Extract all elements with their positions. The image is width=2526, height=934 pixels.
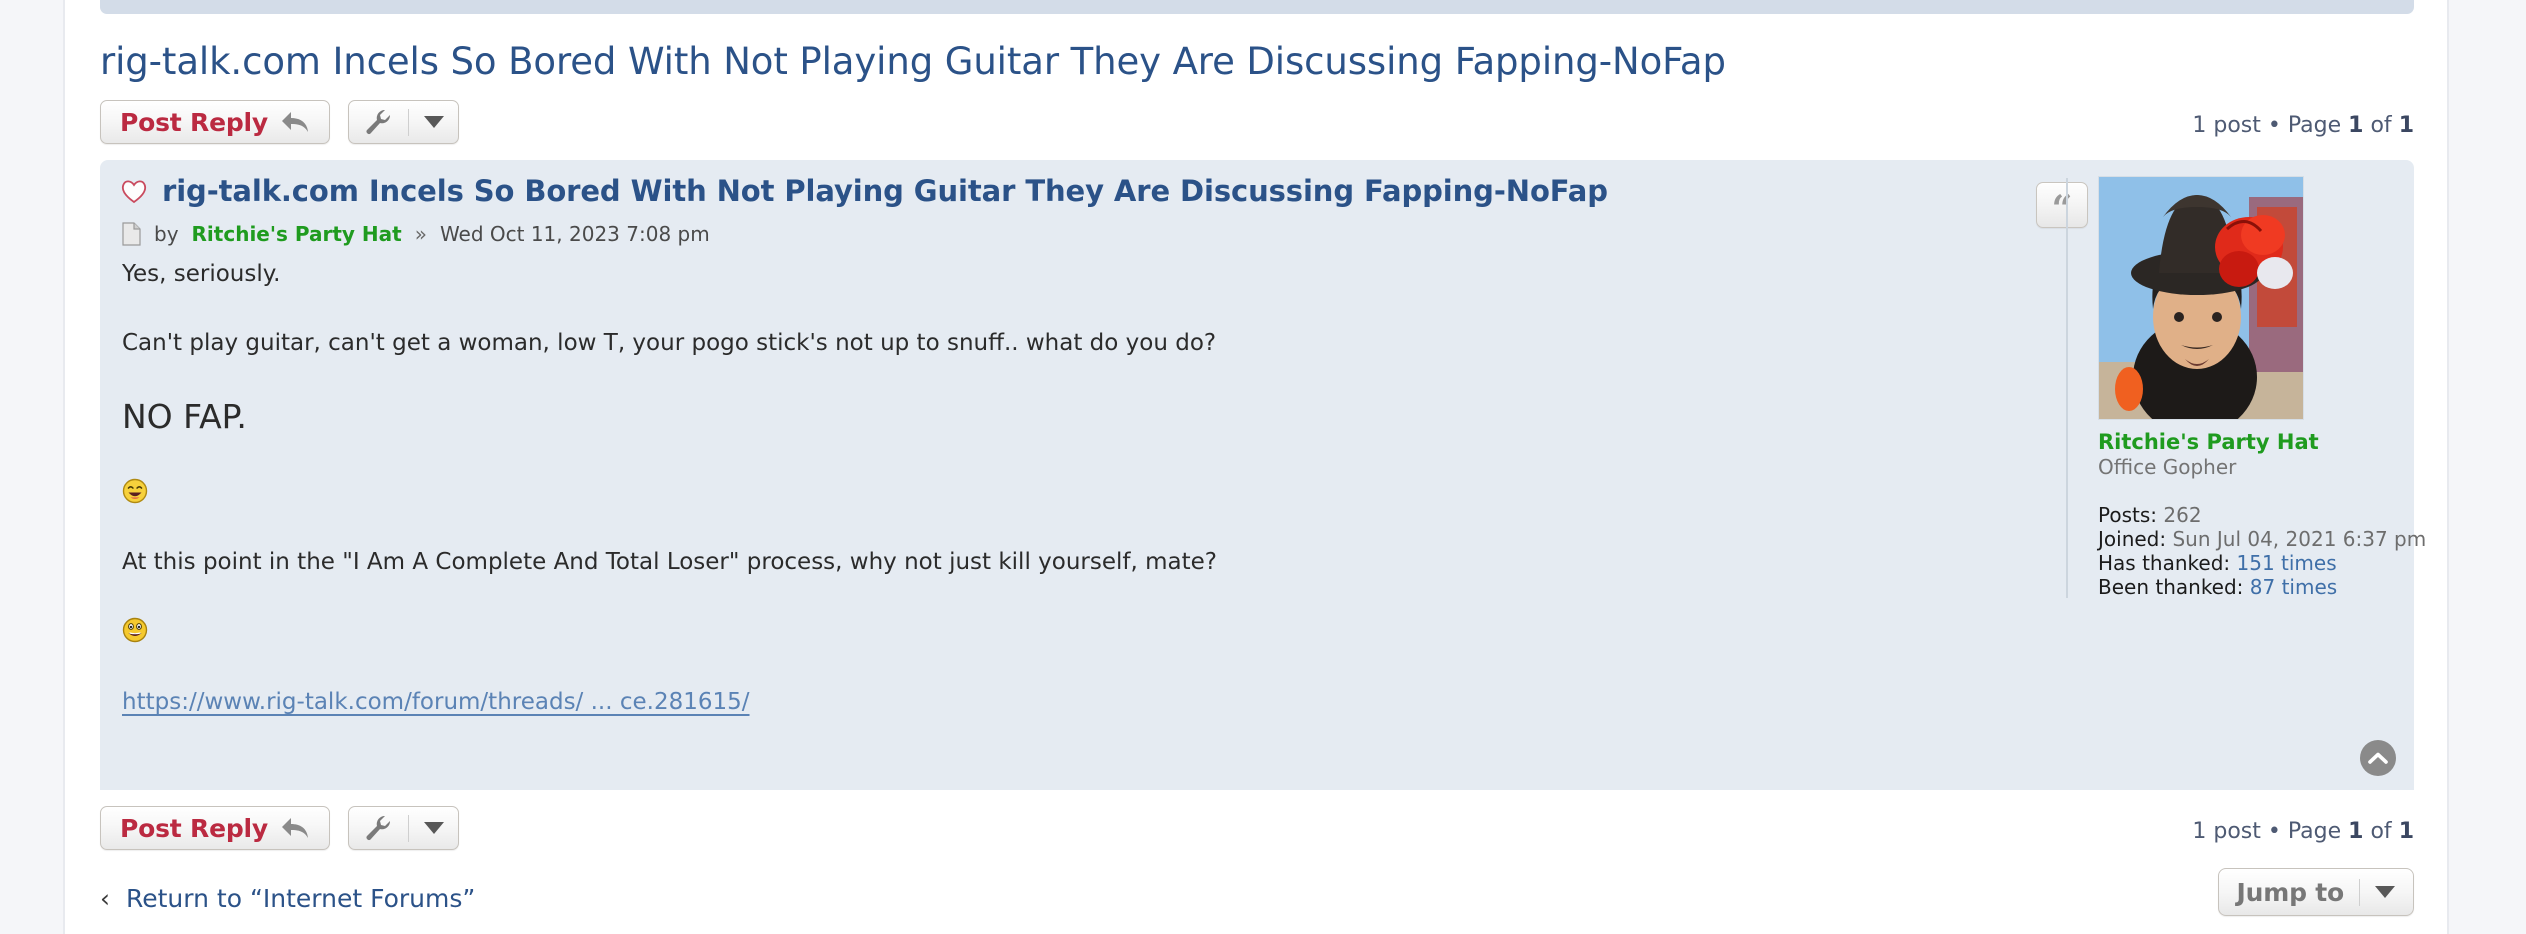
post-title-row: rig-talk.com Incels So Bored With Not Pl… <box>120 174 1608 208</box>
pagination-bottom: 1 post • Page 1 of 1 <box>2192 819 2414 844</box>
of-word: of <box>2370 113 2391 138</box>
emoticon-row <box>122 617 1992 645</box>
pagination-bullet: • <box>2268 113 2281 138</box>
post-subject[interactable]: rig-talk.com Incels So Bored With Not Pl… <box>162 174 1608 208</box>
wrench-icon <box>363 108 393 136</box>
content-wrapper: rig-talk.com Incels So Bored With Not Pl… <box>63 0 2449 934</box>
of-word: of <box>2370 819 2391 844</box>
profile-username[interactable]: Ritchie's Party Hat <box>2098 430 2388 454</box>
button-separator <box>408 815 409 842</box>
stat-label: Joined: <box>2098 527 2166 551</box>
stat-row: Been thanked: 87 times <box>2098 575 2388 599</box>
stat-value: 262 <box>2163 503 2201 527</box>
smiley-laughing-icon <box>122 478 148 504</box>
bottom-navigation: ‹ Return to “Internet Forums” Jump to <box>100 884 2414 932</box>
profile-stats: Posts: 262 Joined: Sun Jul 04, 2021 6:37… <box>2098 503 2388 599</box>
quote-button[interactable]: “ <box>2036 182 2088 228</box>
chevron-down-icon <box>2375 886 2395 898</box>
emoticon-row <box>122 478 1992 506</box>
post-reply-button-bottom[interactable]: Post Reply <box>100 806 330 850</box>
total-pages: 1 <box>2399 819 2414 844</box>
return-label: Return to “Internet Forums” <box>126 884 475 913</box>
smiley-grin-icon <box>122 617 148 643</box>
current-page: 1 <box>2348 819 2363 844</box>
pagination-top: 1 post • Page 1 of 1 <box>2192 113 2414 138</box>
post-reply-button-top[interactable]: Post Reply <box>100 100 330 144</box>
reply-arrow-icon <box>280 815 310 841</box>
post-paragraph: Yes, seriously. <box>122 260 1992 288</box>
post-panel: rig-talk.com Incels So Bored With Not Pl… <box>100 160 2414 790</box>
page-word: Page <box>2288 113 2341 138</box>
total-pages: 1 <box>2399 113 2414 138</box>
stat-value-link[interactable]: 151 times <box>2237 551 2337 575</box>
post-paragraph: At this point in the "I Am A Complete An… <box>122 548 1992 576</box>
quote-icon: “ <box>2052 198 2073 220</box>
content-inner: rig-talk.com Incels So Bored With Not Pl… <box>65 0 2447 934</box>
page-title: rig-talk.com Incels So Bored With Not Pl… <box>100 42 1726 82</box>
post-count: 1 post <box>2192 113 2261 138</box>
page-word: Page <box>2288 819 2341 844</box>
chevron-up-icon <box>2368 751 2388 765</box>
current-page: 1 <box>2348 113 2363 138</box>
action-bar-top: Post Reply <box>100 100 2414 148</box>
stat-row: Posts: 262 <box>2098 503 2388 527</box>
chevron-left-icon: ‹ <box>100 886 110 911</box>
return-to-forum-link[interactable]: ‹ Return to “Internet Forums” <box>100 884 475 913</box>
post-reply-label: Post Reply <box>120 108 268 137</box>
by-label: by <box>154 222 179 246</box>
post-file-icon[interactable] <box>122 222 141 246</box>
profile-rank: Office Gopher <box>2098 455 2388 479</box>
post-reply-label: Post Reply <box>120 814 268 843</box>
back-to-top-button[interactable] <box>2360 740 2396 776</box>
button-separator <box>2359 879 2360 906</box>
jump-to-label: Jump to <box>2237 878 2344 907</box>
post-count: 1 post <box>2192 819 2261 844</box>
stat-label: Been thanked: <box>2098 575 2243 599</box>
button-separator <box>408 109 409 136</box>
post-meta: by Ritchie's Party Hat » Wed Oct 11, 202… <box>122 222 710 246</box>
post-date: Wed Oct 11, 2023 7:08 pm <box>440 222 710 246</box>
chevron-down-icon <box>424 822 444 834</box>
post-content: Yes, seriously. Can't play guitar, can't… <box>122 260 1992 717</box>
stat-label: Has thanked: <box>2098 551 2230 575</box>
post-paragraph-large: NO FAP. <box>122 398 1992 436</box>
stat-row: Joined: Sun Jul 04, 2021 6:37 pm <box>2098 527 2388 551</box>
author-profile: Ritchie's Party Hat Office Gopher Posts:… <box>2098 176 2388 599</box>
forum-page: rig-talk.com Incels So Bored With Not Pl… <box>0 0 2526 934</box>
heart-icon[interactable] <box>120 178 148 204</box>
post-paragraph: Can't play guitar, can't get a woman, lo… <box>122 329 1992 357</box>
topic-tools-button-top[interactable] <box>348 100 459 144</box>
stat-row: Has thanked: 151 times <box>2098 551 2388 575</box>
previous-panel-strip <box>100 0 2414 14</box>
action-bar-bottom: Post Reply <box>100 806 2414 854</box>
jump-to-dropdown[interactable]: Jump to <box>2218 868 2414 916</box>
pagination-bullet: • <box>2268 819 2281 844</box>
chevron-down-icon <box>424 116 444 128</box>
stat-value-link[interactable]: 87 times <box>2250 575 2337 599</box>
avatar[interactable] <box>2098 176 2304 420</box>
reply-arrow-icon <box>280 109 310 135</box>
post-author-link[interactable]: Ritchie's Party Hat <box>192 222 402 246</box>
topic-tools-button-bottom[interactable] <box>348 806 459 850</box>
stat-value: Sun Jul 04, 2021 6:37 pm <box>2172 527 2426 551</box>
wrench-icon <box>363 814 393 842</box>
meta-separator: » <box>415 222 427 246</box>
profile-divider <box>2066 178 2068 598</box>
external-link[interactable]: https://www.rig-talk.com/forum/threads/ … <box>122 687 750 717</box>
stat-label: Posts: <box>2098 503 2157 527</box>
